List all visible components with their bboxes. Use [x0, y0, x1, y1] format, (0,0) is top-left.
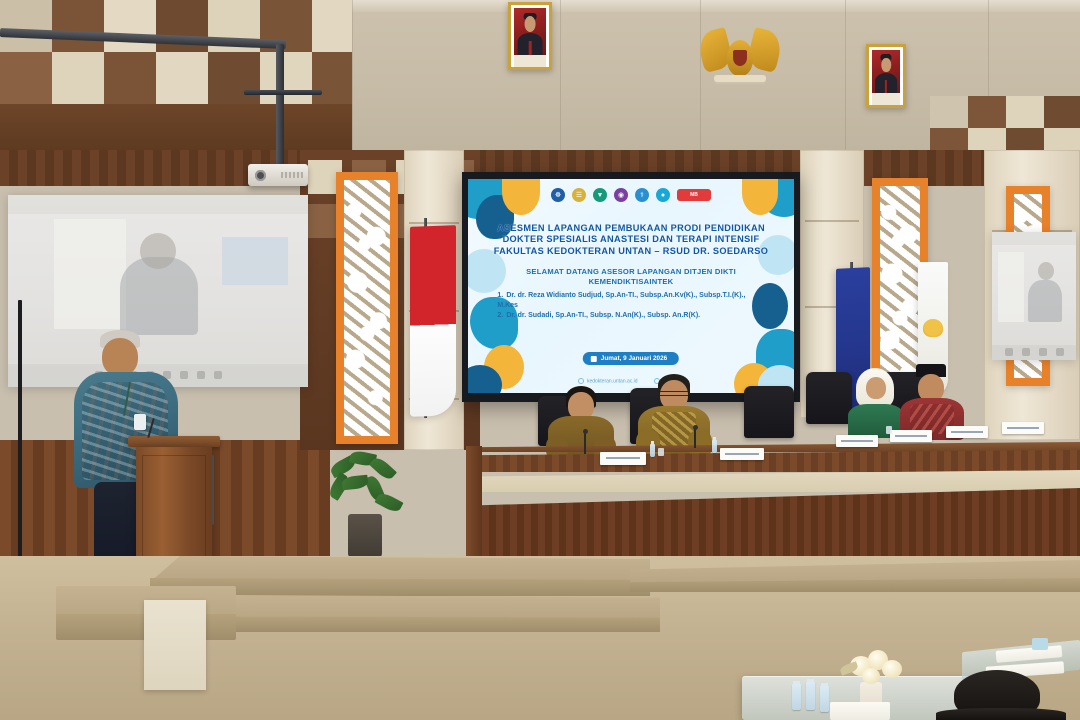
stage-step-top [150, 556, 650, 582]
fk-untan-logo: ◉ [614, 188, 628, 202]
nameplate-6 [1002, 422, 1044, 434]
nameplate-5 [946, 426, 988, 438]
podium-cable [212, 455, 214, 525]
banner-subtitle-line2: KEMENDIKTISAINTEK [501, 277, 762, 287]
banner-subtitle: SELAMAT DATANG ASESOR LAPANGAN DITJEN DI… [501, 267, 762, 286]
calendar-icon [591, 356, 597, 362]
untan-logo: ▼ [593, 188, 607, 202]
glasses-icon [660, 391, 688, 396]
panelist-3 [846, 368, 906, 436]
list-item: 1.Dr. dr. Reza Widianto Sudjud, Sp.An-TI… [497, 291, 764, 310]
nameplate-3 [836, 435, 878, 447]
water-bottle-1 [650, 444, 655, 457]
flag-emblem-icon [923, 319, 943, 337]
projection-screen-right [992, 232, 1076, 360]
assessor-number: 2. [497, 311, 506, 321]
flower-bloom-4 [862, 668, 880, 684]
garuda-pancasila-emblem [700, 30, 780, 84]
head-table-cream-band [468, 470, 1080, 492]
carved-filigree-panel-left [336, 172, 398, 444]
nameplate-2 [720, 448, 764, 460]
foreground-napkin [830, 702, 890, 720]
podium-top [128, 436, 220, 447]
cream-riser-block [144, 600, 206, 690]
list-item: 2.Dr. dr. Sudadi, Sp.An-TI., Subsp. N.An… [497, 311, 764, 321]
banner-title: ASESMEN LAPANGAN PEMBUKAAN PRODI PENDIDI… [491, 223, 771, 257]
potted-plant [326, 452, 416, 572]
chair-3 [744, 386, 794, 438]
lamptkes-logo: ● [656, 188, 670, 202]
drinking-glass-2 [886, 426, 892, 434]
date-badge: Jumat, 9 Januari 2026 [583, 352, 679, 365]
event-banner: ☸ ☰ ▼ ◉ ⚕ ● MB ASESMEN LAPANGAN PEMBUKAA… [468, 179, 794, 393]
foreground-water-bottle-1 [792, 684, 801, 710]
nameplate-4 [890, 430, 932, 442]
assessor-name: Dr. dr. Reza Widianto Sudjud, Sp.An-TI.,… [497, 292, 745, 309]
assessor-list: 1.Dr. dr. Reza Widianto Sudjud, Sp.An-TI… [497, 291, 764, 322]
head-table-left-return [466, 446, 482, 566]
flower-bloom-3 [882, 660, 902, 678]
foreground-water-bottle-2 [806, 682, 815, 710]
face [866, 377, 886, 399]
indonesian-flag [410, 225, 456, 417]
projector-lens-icon [255, 170, 266, 181]
projector-vent [281, 172, 303, 178]
id-badge [134, 414, 146, 430]
banner-title-line3: FAKULTAS KEDOKTERAN UNTAN – RSUD DR. SOE… [491, 246, 771, 257]
assessor-name: Dr. dr. Sudadi, Sp.An-TI., Subsp. N.An(K… [506, 312, 700, 319]
projector-mount-pipe-vertical [276, 44, 284, 164]
assessor-number: 1. [497, 291, 506, 301]
foreground-water-bottle-3 [820, 686, 829, 712]
banner-title-line2: DOKTER SPESIALIS ANASTESI DAN TERAPI INT… [491, 234, 771, 245]
merdeka-belajar-logo: MB [677, 189, 711, 201]
cup-on-shelf [1032, 638, 1048, 650]
checkered-wall-panel-left [0, 0, 352, 160]
partner-logos-row: ☸ ☰ ▼ ◉ ⚕ ● MB [468, 188, 794, 202]
water-bottle-2 [712, 440, 717, 453]
foreground-attendee-shoulder [936, 708, 1066, 720]
head [102, 338, 138, 376]
tut-wuri-handayani-logo: ☰ [572, 188, 586, 202]
led-video-wall: ☸ ☰ ▼ ◉ ⚕ ● MB ASESMEN LAPANGAN PEMBUKAA… [462, 172, 800, 402]
rsud-soedarso-logo: ⚕ [635, 188, 649, 202]
ceiling-mounted-projector [248, 164, 308, 186]
plant-pot [348, 514, 382, 560]
banner-subtitle-line1: SELAMAT DATANG ASESOR LAPANGAN DITJEN DI… [501, 267, 762, 277]
website-item: kedokteran.untan.ac.id [578, 378, 638, 384]
date-text: Jumat, 9 Januari 2026 [601, 355, 667, 362]
website-text: kedokteran.untan.ac.id [587, 378, 638, 384]
conference-hall-photo: ☸ ☰ ▼ ◉ ⚕ ● MB ASESMEN LAPANGAN PEMBUKAA… [0, 0, 1080, 720]
globe-icon [578, 378, 584, 384]
nameplate-1 [600, 452, 646, 465]
banner-title-line1: ASESMEN LAPANGAN PEMBUKAAN PRODI PENDIDI… [491, 223, 771, 234]
banner-footer: kedokteran.untan.ac.id @fkuntan [468, 378, 794, 384]
wakil-presiden-portrait [866, 44, 906, 108]
drinking-glass-1 [658, 448, 664, 456]
table-microphone-2 [694, 428, 696, 448]
presiden-portrait [508, 2, 552, 70]
kemendikti-logo: ☸ [551, 188, 565, 202]
table-microphone-1 [584, 432, 586, 454]
projector-mount-plate [244, 90, 322, 95]
